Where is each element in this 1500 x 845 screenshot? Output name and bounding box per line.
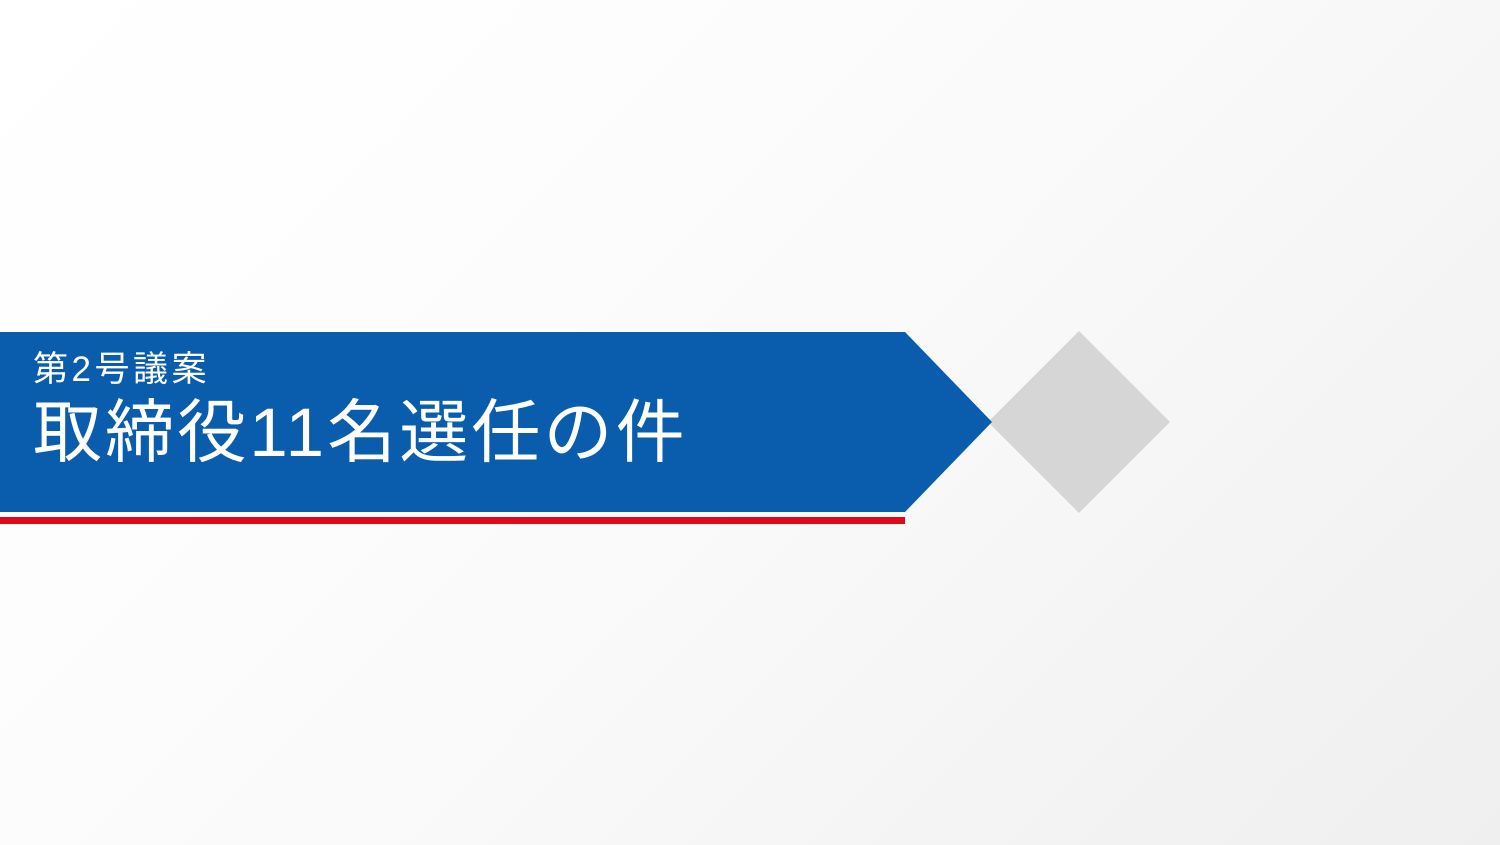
- title-banner-shape: [0, 332, 992, 512]
- slide-canvas: 第2号議案 取締役11名選任の件: [0, 0, 1500, 845]
- diamond-decoration: [988, 331, 1170, 513]
- accent-rule: [0, 517, 905, 524]
- arrow-banner-icon: [0, 332, 992, 512]
- diamond-icon: [988, 331, 1170, 513]
